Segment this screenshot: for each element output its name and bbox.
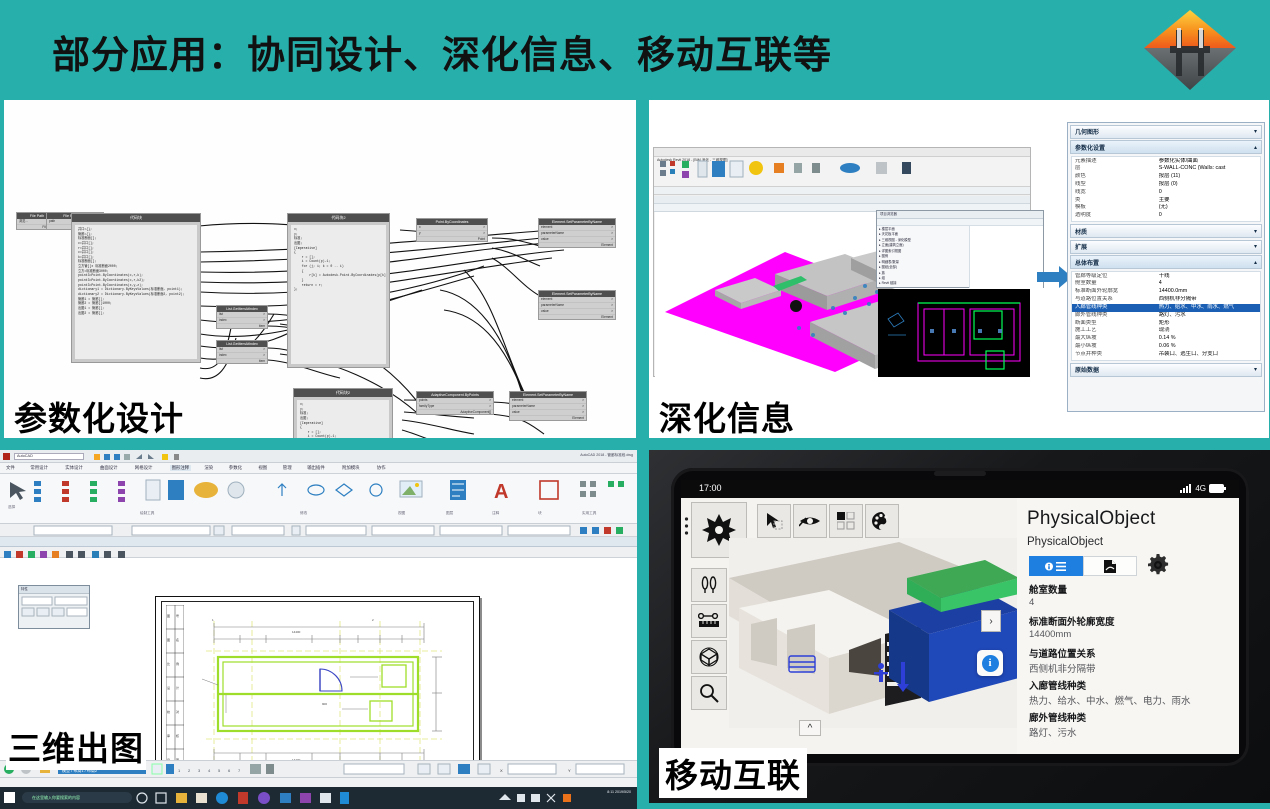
floor-plan-drawing: 12 12 14400 14400 900 中间平面图 1:50 — [192, 613, 464, 781]
info-badge-container[interactable]: i — [977, 650, 1003, 676]
property-value: 0.14 % — [1159, 335, 1257, 343]
properties-toolbar-icons — [0, 524, 637, 537]
autocad-properties-toolbar[interactable] — [0, 524, 637, 537]
property-key: 最小纵坡 — [1075, 343, 1159, 351]
svg-text:号: 号 — [176, 613, 179, 618]
ribbon-tab[interactable]: 协作 — [377, 465, 386, 471]
isolate-objects-icon[interactable] — [829, 504, 863, 538]
chevron-down-icon[interactable]: ▾ — [1254, 366, 1257, 373]
svg-text:视图: 视图 — [398, 510, 406, 515]
revit-ribbon[interactable] — [654, 157, 1030, 187]
property-key: 廊外管线种类 — [1075, 312, 1159, 320]
autocad-command-line[interactable]: 模型 / 布局1 / 布局2 — [0, 777, 637, 787]
ribbon-icon-set: 选择 绘制工具 修改 视图 — [0, 474, 637, 524]
start-button-icon[interactable] — [4, 792, 15, 803]
property-value: 吊装口、逃生口、分支口 — [1159, 351, 1257, 359]
property-key: 断面类型 — [1075, 320, 1159, 328]
expand-up-button[interactable]: ^ — [799, 720, 821, 736]
windows-taskbar[interactable]: 在这里输入你要搜索的内容 8:11 2019/5/20 — [0, 787, 637, 809]
object-title: PhysicalObject — [1027, 508, 1155, 530]
page-title: 部分应用：协同设计、深化信息、移动互联等 — [52, 24, 832, 79]
property-row[interactable]: 管廊等级定位干线 — [1072, 273, 1260, 281]
property-row[interactable]: 廊外管线种类路灯、污水 — [1072, 312, 1260, 320]
mini-dialog-title: 特性 — [19, 586, 89, 594]
property-key: 最大纵坡 — [1075, 335, 1159, 343]
property-value: 按层 (11) — [1159, 173, 1257, 181]
property-row[interactable]: 断面类型矩形 — [1072, 320, 1260, 328]
status-indicators: 4G — [1180, 483, 1227, 493]
code-block-title: 代码块 — [72, 214, 200, 222]
dialog-title: 项目浏览器 — [877, 211, 1043, 219]
svg-text:A: A — [494, 481, 508, 503]
property-row[interactable]: 透明度0 — [1072, 212, 1260, 220]
autocad-ribbon-tabs[interactable]: 文件常用设计实体设计曲面设计网格设计图形注释渲染参数化视图管理输出插件附加模块协… — [0, 463, 637, 474]
revit-window[interactable]: Autodesk Revit 2018 - [BIM 深化 - 三维视图] — [653, 147, 1031, 377]
node-output: Element — [510, 416, 586, 420]
dynamo-node[interactable]: Point.ByCoordinates x> y> Point — [416, 218, 488, 242]
node-output: item — [217, 359, 267, 363]
property-value: 参数化实体/曲面 — [1159, 158, 1257, 166]
quick-access-toolbar[interactable] — [92, 452, 212, 461]
property-section-header[interactable]: 扩展▾ — [1070, 240, 1262, 254]
tablet-property-value: 4 — [1029, 597, 1034, 608]
property-key: 层 — [1075, 165, 1159, 173]
property-section-header[interactable]: 材质▾ — [1070, 224, 1262, 238]
info-list-icon — [1045, 561, 1067, 572]
svg-text:1: 1 — [178, 768, 181, 773]
revit-options-bar[interactable] — [654, 187, 1030, 195]
svg-text:注释: 注释 — [492, 510, 500, 515]
dynamo-canvas[interactable]: File Path 浏览...> File Path File From Pat… — [4, 100, 636, 438]
ribbon-tab[interactable]: 附加模块 — [342, 465, 360, 471]
property-value: 0 — [1159, 189, 1257, 197]
svg-text:修改: 修改 — [300, 510, 308, 515]
svg-text:图: 图 — [167, 614, 170, 618]
property-rows: 管廊等级定位干线舱室数量4标准断面外轮廓宽14400.0mm与道路位置关系西侧机… — [1071, 271, 1261, 361]
panel-label-parametric-design: 参数化设计 — [14, 392, 184, 440]
svg-text:Y: Y — [568, 768, 571, 773]
panel-parametric-design: File Path 浏览...> File Path File From Pat… — [4, 100, 636, 438]
ribbon-tab[interactable]: 参数化 — [229, 465, 242, 471]
code-block-body[interactable]: 井口={}; 管廊={}; 标准断面[]; c=井口[]; r=井口[]; c=… — [75, 225, 197, 359]
property-value: 现浇 — [1159, 327, 1257, 335]
svg-text:4: 4 — [208, 768, 211, 773]
property-value: (无) — [1159, 204, 1257, 212]
property-section-header[interactable]: 几何图形▾ — [1070, 125, 1262, 139]
svg-text:计: 计 — [176, 685, 179, 690]
property-section-title: 原始数据 — [1075, 365, 1099, 374]
code-block-body[interactable]: x; y; 标准; 出图; [Imperative] { r = []; i =… — [291, 225, 386, 364]
panel-label-3d-drawing-output: 三维出图 — [6, 722, 146, 770]
object-subtitle: PhysicalObject — [1027, 536, 1103, 548]
svg-text:2: 2 — [188, 768, 191, 773]
property-row[interactable]: 线宽0 — [1072, 189, 1260, 197]
panel-detailed-information: Autodesk Revit 2018 - [BIM 深化 - 三维视图] — [649, 100, 1269, 438]
property-key: 颜色 — [1075, 173, 1159, 181]
property-section-title: 几何图形 — [1075, 127, 1099, 136]
hide-eye-icon[interactable] — [793, 504, 827, 538]
svg-text:900: 900 — [322, 702, 327, 706]
svg-text:6: 6 — [228, 768, 231, 773]
dynamo-code-block[interactable]: 代码块2 x; y; 标准; 出图; [Imperative] { r = []… — [287, 213, 390, 368]
property-value: S-WALL-CONC (Walls: cast — [1159, 165, 1257, 173]
property-key: 元素描述 — [1075, 158, 1159, 166]
bim-app-body[interactable]: › ^ i PhysicalObject PhysicalObject — [681, 498, 1239, 754]
panel-label-detailed-information: 深化信息 — [659, 392, 795, 440]
svg-text:7: 7 — [238, 768, 241, 773]
property-section-header[interactable]: 参数化设置▴ — [1070, 140, 1262, 154]
property-row[interactable]: 节点井种类吊装口、逃生口、分支口 — [1072, 351, 1260, 359]
ribbon-tab[interactable]: 视图 — [258, 465, 267, 471]
dynamo-node[interactable]: Element.SetParameterByName element> para… — [538, 290, 616, 320]
svg-text:名: 名 — [176, 637, 179, 642]
property-key: 施工工艺 — [1075, 327, 1159, 335]
property-row[interactable]: 标准断面外轮廓宽14400.0mm — [1072, 288, 1260, 296]
next-arrow-button[interactable]: › — [981, 610, 1001, 632]
property-value: 干线 — [1159, 273, 1257, 281]
properties-sections: 几何图形▾参数化设置▴元素描述参数化实体/曲面层S-WALL-CONC (Wal… — [1068, 125, 1264, 377]
ribbon-icons — [654, 157, 1032, 187]
object-info-pane[interactable]: PhysicalObject PhysicalObject — [1017, 498, 1239, 754]
revit-project-browser-dialog[interactable]: 项目浏览器 ▸ 楼层平面 ▸ 天花板平面 ▸ 三维视图 - 深化模型 ▸ 立面(… — [876, 210, 1044, 288]
property-rows: 元素描述参数化实体/曲面层S-WALL-CONC (Walls: cast颜色按… — [1071, 156, 1261, 223]
autocad-layer-bar[interactable]: 图层: 0 — [0, 537, 637, 547]
property-section-header[interactable]: 原始数据▾ — [1070, 363, 1262, 377]
property-row[interactable]: 元素描述参数化实体/曲面 — [1072, 158, 1260, 166]
property-key: 入廊管线种类 — [1075, 304, 1159, 312]
ribbon-tab[interactable]: 输出插件 — [307, 465, 325, 471]
dynamo-code-block[interactable]: 代码块 井口={}; 管廊={}; 标准断面[]; c=井口[]; r=井口[]… — [71, 213, 201, 363]
document-icon — [1103, 559, 1117, 574]
node-output: item — [217, 324, 267, 328]
info-tab[interactable] — [1029, 556, 1083, 576]
property-row[interactable]: 施工工艺现浇 — [1072, 327, 1260, 335]
autocad-secondary-toolbar[interactable] — [0, 547, 637, 558]
node-output: Element — [539, 315, 615, 319]
ribbon-tab[interactable]: 管理 — [283, 465, 292, 471]
ribbon-tab[interactable]: 常用设计 — [30, 465, 48, 471]
code-block-body[interactable]: x; y; 标准; 出图; [Imperative] { r = []; i =… — [297, 400, 389, 438]
svg-text:校: 校 — [167, 709, 170, 714]
cursor-select-icon[interactable] — [757, 504, 791, 538]
chevron-down-icon[interactable]: ▾ — [1254, 228, 1257, 235]
property-value: 按层 (0) — [1159, 181, 1257, 189]
property-value: 0.06 % — [1159, 343, 1257, 351]
node-output: AdaptiveComponent[] — [417, 410, 493, 414]
battery-icon — [1209, 484, 1227, 493]
property-section-title: 总体布置 — [1075, 258, 1099, 267]
dynamo-node[interactable]: List.GetItemAtIndex list> index> item — [216, 305, 268, 329]
dynamo-node[interactable]: Element.SetParameterByName element> para… — [538, 218, 616, 248]
property-key: 舱室数量 — [1075, 280, 1159, 288]
property-value: 西侧机非分隔带 — [1159, 296, 1257, 304]
property-key: 与道路位置关系 — [1075, 296, 1159, 304]
panel-label-mobile-internet: 移动互联 — [659, 748, 807, 798]
zoom-search-icon[interactable] — [691, 676, 727, 710]
ribbon-tab[interactable]: 图形注释 — [170, 465, 192, 471]
object-property-list: 舱室数量4标准断面外轮廓宽度14400mm与道路位置关系西侧机非分隔带入廊管线种… — [1029, 582, 1239, 742]
info-icon: i — [982, 655, 999, 672]
svg-text:选择: 选择 — [8, 504, 16, 509]
svg-text:图: 图 — [167, 638, 170, 642]
property-value: 路灯、污水 — [1159, 312, 1257, 320]
tablet-screen[interactable]: 17:00 4G — [681, 480, 1239, 754]
property-section-header[interactable]: 总体布置▴ — [1070, 255, 1262, 269]
property-section-title: 扩展 — [1075, 242, 1087, 251]
revit-cad-underlay-view[interactable] — [878, 289, 1030, 377]
tablet-property-key: 入廊管线种类 — [1029, 678, 1086, 692]
ribbon-tab[interactable]: 文件 — [6, 465, 15, 471]
measure-icon[interactable] — [691, 604, 727, 638]
status-network-label: 4G — [1195, 484, 1206, 493]
tablet-property-value: 路灯、污水 — [1029, 725, 1077, 739]
properties-panel[interactable]: 几何图形▾参数化设置▴元素描述参数化实体/曲面层S-WALL-CONC (Wal… — [1067, 122, 1265, 412]
tablet-property-value: 热力、给水、中水、燃气、电力、雨水 — [1029, 693, 1191, 707]
taskbar-app-icons[interactable] — [134, 791, 454, 805]
svg-text:14400: 14400 — [292, 630, 301, 634]
svg-text:2: 2 — [372, 618, 374, 622]
svg-text:图层: 图层 — [446, 510, 454, 515]
property-value: 矩形 — [1159, 320, 1257, 328]
svg-text:对: 对 — [176, 709, 179, 714]
property-row[interactable]: 线型按层 (0) — [1072, 181, 1260, 189]
property-key: 类 — [1075, 197, 1159, 205]
taskbar-search-input[interactable]: 在这里输入你要搜索的内容 — [22, 792, 132, 803]
svg-text:实用工具: 实用工具 — [582, 510, 597, 515]
dynamo-node[interactable]: List.GetItemAtIndex list> index> item — [216, 340, 268, 364]
ribbon-tab[interactable]: 曲面设计 — [100, 465, 118, 471]
taskbar-clock[interactable]: 8:11 2019/5/20 — [607, 790, 631, 795]
dialog-preview — [970, 226, 1043, 288]
property-key: 线型 — [1075, 181, 1159, 189]
svg-text:块: 块 — [538, 510, 542, 515]
tool-dots-indicator — [684, 516, 689, 543]
node-output: Point — [417, 237, 487, 241]
autocad-properties-dialog[interactable]: 特性 — [18, 585, 90, 629]
orbit-cube-icon[interactable] — [691, 640, 727, 674]
cad-underlay-drawing — [878, 289, 1030, 377]
chevron-down-icon[interactable]: ▾ — [1254, 128, 1257, 135]
svg-text:审: 审 — [167, 733, 170, 738]
svg-text:绘制工具: 绘制工具 — [140, 510, 155, 515]
property-row[interactable]: 层S-WALL-CONC (Walls: cast — [1072, 165, 1260, 173]
code-block-title: 代码块2 — [288, 214, 389, 222]
svg-text:X: X — [500, 768, 503, 773]
property-key: 线宽 — [1075, 189, 1159, 197]
next-arrow-label: › — [989, 616, 992, 627]
property-value: 主要 — [1159, 197, 1257, 205]
svg-text:5: 5 — [218, 768, 221, 773]
autocad-app-icon — [3, 453, 10, 460]
tablet-property-value: 14400mm — [1029, 629, 1071, 640]
svg-text:比: 比 — [167, 661, 170, 666]
chevron-down-icon[interactable]: ▾ — [1254, 243, 1257, 250]
tablet-property-key: 廊外管线种类 — [1029, 710, 1086, 724]
dynamo-code-block[interactable]: 代码块2 x; y; 标准; 出图; [Imperative] { r = []… — [293, 388, 393, 438]
node-output: Element — [539, 243, 615, 247]
property-row[interactable]: 模板(无) — [1072, 204, 1260, 212]
document-tab[interactable] — [1083, 556, 1137, 576]
chevron-up-icon[interactable]: ▴ — [1254, 259, 1257, 266]
dynamo-node[interactable]: AdaptiveComponent.ByPoints points> famil… — [416, 391, 494, 415]
expand-up-label: ^ — [808, 723, 813, 734]
tree-item[interactable]: ▸ Revit 链接 — [879, 281, 967, 286]
code-block-title: 代码块2 — [294, 389, 392, 397]
revit-title-bar[interactable]: Autodesk Revit 2018 - [BIM 深化 - 三维视图] — [654, 148, 1030, 157]
svg-text:设: 设 — [167, 685, 170, 690]
property-key: 透明度 — [1075, 212, 1159, 220]
walk-icon[interactable] — [691, 568, 727, 602]
status-time: 17:00 — [699, 483, 722, 493]
gear-icon[interactable] — [1147, 554, 1169, 581]
tablet-property-value: 西侧机非分隔带 — [1029, 661, 1096, 675]
tablet-device: 17:00 4G — [671, 468, 1249, 766]
bim-model-geometry — [729, 538, 1019, 728]
dialog-tree[interactable]: ▸ 楼层平面 ▸ 天花板平面 ▸ 三维视图 - 深化模型 ▸ 立面(建筑立面) … — [877, 226, 970, 288]
property-row[interactable]: 类主要 — [1072, 197, 1260, 205]
property-key: 管廊等级定位 — [1075, 273, 1159, 281]
ribbon-tab[interactable]: 网格设计 — [135, 465, 153, 471]
company-diamond-logo — [1140, 6, 1240, 92]
autocad-ribbon[interactable]: 选择 绘制工具 修改 视图 — [0, 474, 637, 524]
tablet-property-key: 舱室数量 — [1029, 582, 1067, 596]
chevron-up-icon[interactable]: ▴ — [1254, 144, 1257, 151]
tablet-speaker-grille — [934, 471, 986, 476]
property-row[interactable]: 入廊管线种类热力、给水、中水、雨水、燃气 — [1072, 304, 1260, 312]
tablet-property-key: 标准断面外轮廓宽度 — [1029, 614, 1115, 628]
autocad-quick-access-combo[interactable]: AutoCAD — [14, 453, 84, 460]
property-row[interactable]: 舱室数量4 — [1072, 280, 1260, 288]
mini-dialog-content — [19, 594, 91, 628]
property-row[interactable]: 与道路位置关系西侧机非分隔带 — [1072, 296, 1260, 304]
property-section-title: 参数化设置 — [1075, 143, 1105, 152]
palette-icon[interactable] — [865, 504, 899, 538]
property-key: 节点井种类 — [1075, 351, 1159, 359]
ribbon-tab[interactable]: 实体设计 — [65, 465, 83, 471]
autocad-window-title: AutoCAD 2018 - 管廊标准段.dwg — [580, 453, 633, 458]
property-key: 模板 — [1075, 204, 1159, 212]
svg-text:例: 例 — [176, 661, 179, 666]
autocad-title-bar[interactable]: AutoCAD AutoCAD 2018 - 管廊标准段.dwg — [0, 450, 637, 463]
tablet-property-key: 与道路位置关系 — [1029, 646, 1096, 660]
tablet-status-bar: 17:00 4G — [681, 480, 1239, 498]
bim-3d-model-view[interactable] — [729, 538, 1019, 728]
property-value: 0 — [1159, 212, 1257, 220]
property-row[interactable]: 颜色按层 (11) — [1072, 173, 1260, 181]
property-section-title: 材质 — [1075, 227, 1087, 236]
dynamo-node[interactable]: Element.SetParameterByName element> para… — [509, 391, 587, 421]
property-value: 热力、给水、中水、雨水、燃气 — [1159, 304, 1257, 312]
svg-text:3: 3 — [198, 768, 201, 773]
signal-bars-icon — [1180, 483, 1192, 493]
property-row[interactable]: 最小纵坡0.06 % — [1072, 343, 1260, 351]
property-value: 4 — [1159, 280, 1257, 288]
page-header: 部分应用：协同设计、深化信息、移动互联等 — [0, 0, 1270, 96]
svg-text:核: 核 — [176, 733, 179, 738]
property-row[interactable]: 最大纵坡0.14 % — [1072, 335, 1260, 343]
taskbar-tray-icons[interactable] — [497, 791, 597, 805]
property-key: 标准断面外轮廓宽 — [1075, 288, 1159, 296]
property-value: 14400.0mm — [1159, 288, 1257, 296]
ribbon-tab[interactable]: 渲染 — [204, 465, 213, 471]
